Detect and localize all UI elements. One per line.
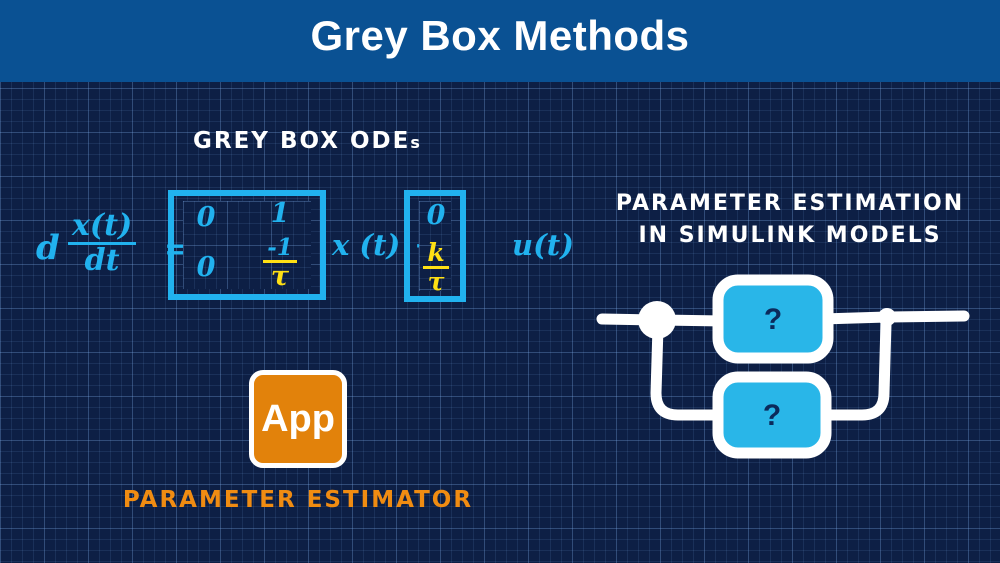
right-panel-heading: PARAMETER ESTIMATION IN SIMULINK MODELS [600,188,980,252]
matrix-b-r2-denominator: τ [423,266,448,295]
matrix-b-r2-numerator: k [423,240,448,266]
simulink-block-diagram: ? ? [590,265,1000,470]
matrix-b-brackets: 0 k τ [404,190,466,302]
right-heading-line-1: PARAMETER ESTIMATION [600,188,980,220]
derivative-numerator: x(t) [68,210,136,242]
right-heading-line-2: IN SIMULINK MODELS [600,220,980,252]
section-title-text: GREY BOX ODE [193,128,410,154]
unknown-block-bottom-label: ? [763,399,781,432]
matrix-a-r2c2-denominator: τ [263,260,297,291]
app-caption: PARAMETER ESTIMATOR [0,487,596,513]
derivative-denominator: dt [68,242,136,277]
page-title: Grey Box Methods [0,12,1000,60]
matrix-a-r2c2-numerator: -1 [263,236,297,260]
signal-split-junction-dot [638,301,676,339]
app-icon-label: App [261,400,335,438]
matrix-a-brackets: 0 1 0 -1 τ [168,190,326,300]
matrix-a-r2c2-fraction: -1 τ [256,236,304,292]
section-title-grey-box-odes: GREY BOX ODEs [193,128,422,154]
parameter-estimator-app-icon[interactable]: App [249,370,347,468]
matrix-a-r2c1: 0 [186,252,226,283]
signal-merge-junction-dot [878,308,896,326]
matrix-a-r1c2: 1 [260,198,300,229]
slide-root: Grey Box Methods GREY BOX ODEs d x(t) dt… [0,0,1000,563]
equation-state-vector: x (t) [332,228,400,262]
equation-input-vector: u(t) [512,228,574,262]
equation-derivative-fraction: x(t) dt [68,210,136,278]
grey-box-state-space-equation: d x(t) dt = 0 1 0 -1 τ x (t) + [36,186,596,306]
equation-differential-operator: d [36,228,60,268]
matrix-b-r1: 0 [416,200,456,231]
matrix-a-r1c1: 0 [186,202,226,233]
unknown-block-bottom: ? [718,377,826,453]
unknown-block-top-label: ? [764,303,782,336]
matrix-b-r2-fraction: k τ [413,240,459,297]
section-title-subscript: s [410,133,422,152]
output-signal-line [887,316,964,317]
header-bar: Grey Box Methods [0,0,1000,82]
unknown-block-top: ? [718,280,828,358]
